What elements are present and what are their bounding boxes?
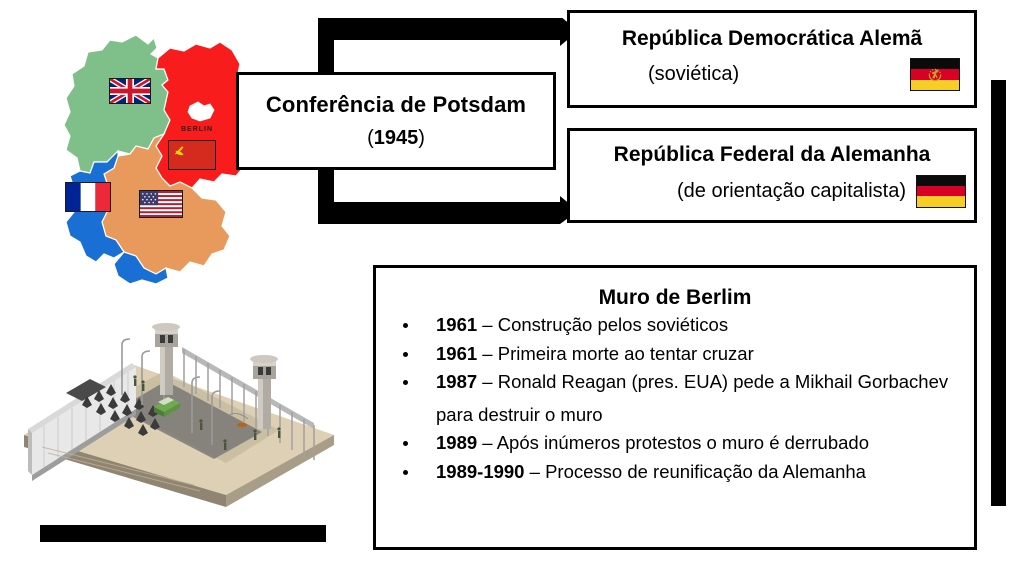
bullet-icon [403,352,408,357]
soviet-union-flag [168,140,216,170]
item-dash: – [477,314,498,335]
diorama-graphic [14,305,344,520]
wall-box-title: Muro de Berlim [392,286,958,310]
item-text: Processo de reunificação da Alemanha [545,461,866,482]
wall-timeline-list: 1961 – Construção pelos soviéticos 1961 … [392,316,958,481]
list-item: 1961 – Primeira morte ao tentar cruzar [392,345,958,364]
item-text: Após inúmeros protestos o muro é derruba… [497,432,869,453]
list-item: 1989 – Após inúmeros protestos o muro é … [392,434,958,453]
potsdam-year-open: ( [367,127,374,149]
berlin-wall-info-box: Muro de Berlim 1961 – Construção pelos s… [373,265,977,550]
item-year: 1989-1990 [436,461,524,482]
flag-band-black [917,176,965,186]
bullet-icon [403,323,408,328]
item-year: 1989 [436,432,477,453]
item-year: 1961 [436,314,477,335]
frg-subtitle-row: (de orientação capitalista) [570,175,974,208]
vertical-black-bar [991,80,1006,506]
gdr-subtitle: (soviética) [648,63,739,86]
berlin-enclave-shape [188,102,214,121]
bullet-icon [403,470,408,475]
germany-flag [916,175,966,208]
item-text: Construção pelos soviéticos [498,314,728,335]
gdr-outcome-box: República Democrática Alemã (soviética) [567,10,977,108]
potsdam-conference-box: Conferência de Potsdam (1945) [236,72,556,170]
berlin-wall-death-strip-diorama [14,305,344,520]
item-year: 1961 [436,343,477,364]
item-continuation: para destruir o muro [436,406,958,425]
frg-title: República Federal da Alemanha [614,143,931,167]
item-dash: – [477,343,498,364]
list-item: 1989-1990 – Processo de reunificação da … [392,463,958,482]
list-item: 1987 – Ronald Reagan (pres. EUA) pede a … [392,373,958,424]
potsdam-year-close: ) [418,127,425,149]
east-germany-flag [910,58,960,91]
bullet-icon [403,441,408,446]
gdr-title: República Democrática Alemã [622,27,922,51]
item-text: Primeira morte ao tentar cruzar [498,343,754,364]
potsdam-year-value: 1945 [374,127,419,149]
potsdam-year: (1945) [367,127,425,150]
flag-band-red [917,186,965,196]
item-text: Ronald Reagan (pres. EUA) pede a Mikhail… [498,371,948,392]
frg-outcome-box: República Federal da Alemanha (de orient… [567,128,977,223]
gdr-subtitle-row: (soviética) [570,58,974,91]
bullet-icon [403,380,408,385]
item-dash: – [477,371,498,392]
item-dash: – [524,461,545,482]
arrow-to-rfa [318,164,578,224]
frg-subtitle: (de orientação capitalista) [677,180,906,203]
horizontal-black-bar [40,525,326,542]
item-year: 1987 [436,371,477,392]
hammer-compass-emblem [927,66,944,83]
flag-band-gold [917,196,965,206]
united-states-flag [139,190,183,218]
united-kingdom-flag [109,78,151,104]
france-flag [65,182,111,212]
berlin-city-label: BERLIN [181,126,213,133]
slide-canvas: BERLIN [0,0,1023,578]
item-dash: – [477,432,497,453]
potsdam-title: Conferência de Potsdam [266,92,526,117]
arrow-to-rda [318,18,578,78]
list-item: 1961 – Construção pelos soviéticos [392,316,958,335]
